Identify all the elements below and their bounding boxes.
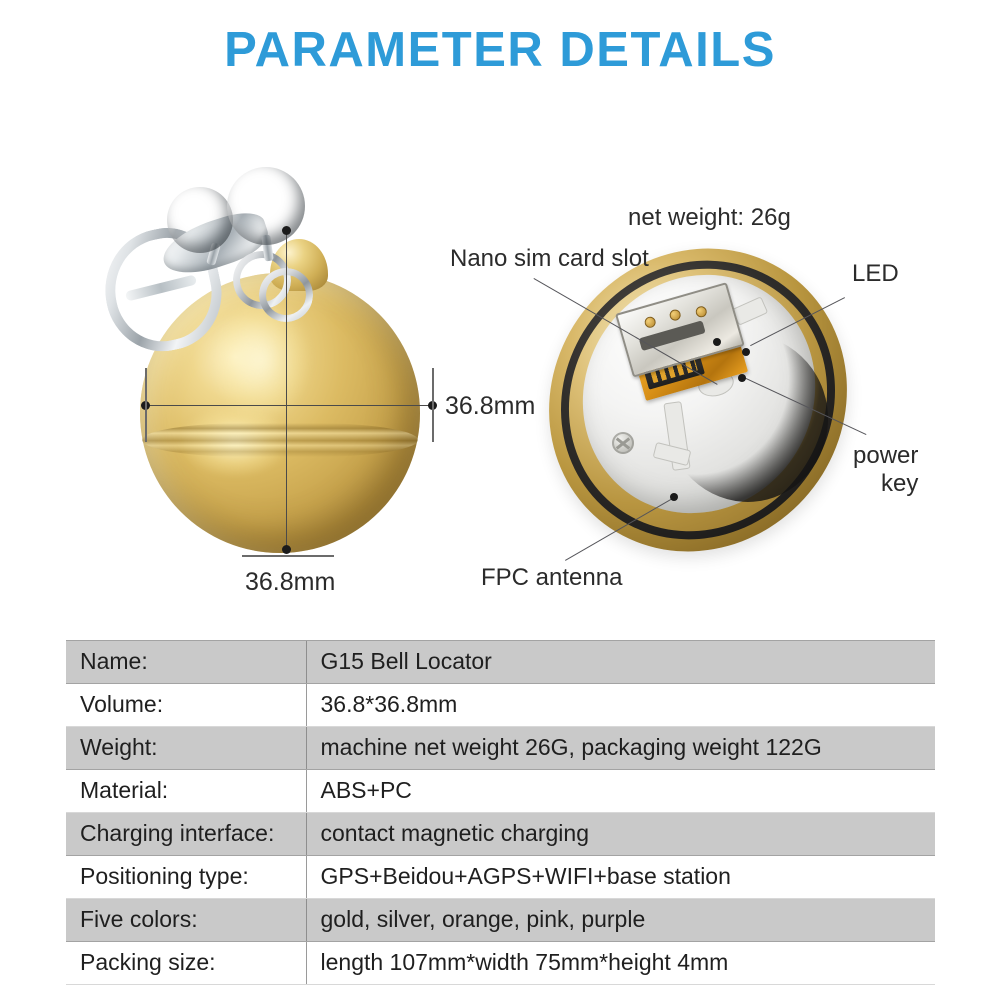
dimension-dot-bottom	[282, 545, 291, 554]
spec-value: 36.8*36.8mm	[306, 684, 935, 727]
annotation-fpc-antenna: FPC antenna	[481, 564, 622, 592]
specification-table: Name: G15 Bell Locator Volume: 36.8*36.8…	[66, 640, 935, 985]
screw-icon	[612, 432, 634, 454]
spec-label: Five colors:	[66, 899, 306, 942]
table-row: Charging interface: contact magnetic cha…	[66, 813, 935, 856]
spec-value: ABS+PC	[306, 770, 935, 813]
annotation-led: LED	[852, 260, 899, 288]
dimension-cap-right	[432, 368, 434, 442]
dimension-cap-left	[145, 368, 147, 442]
spec-value: machine net weight 26G, packaging weight…	[306, 727, 935, 770]
page-title: PARAMETER DETAILS	[0, 22, 1000, 78]
opened-bell-interior-photo	[548, 250, 848, 550]
table-row: Name: G15 Bell Locator	[66, 641, 935, 684]
annotation-power-key-line1: power	[853, 442, 918, 470]
table-row: Packing size: length 107mm*width 75mm*he…	[66, 942, 935, 985]
dimension-dot-top	[282, 226, 291, 235]
table-row: Weight: machine net weight 26G, packagin…	[66, 727, 935, 770]
dimension-cap-bottom	[242, 555, 334, 557]
spec-label: Weight:	[66, 727, 306, 770]
silver-bead-left	[167, 187, 233, 253]
spec-value: G15 Bell Locator	[306, 641, 935, 684]
spec-value: GPS+Beidou+AGPS+WIFI+base station	[306, 856, 935, 899]
annotation-power-key: power key	[853, 442, 918, 499]
spec-label: Volume:	[66, 684, 306, 727]
dimension-line-horizontal	[144, 405, 434, 406]
spec-label: Packing size:	[66, 942, 306, 985]
spec-value: contact magnetic charging	[306, 813, 935, 856]
spec-label: Charging interface:	[66, 813, 306, 856]
table-row: Positioning type: GPS+Beidou+AGPS+WIFI+b…	[66, 856, 935, 899]
annotation-power-key-line2: key	[853, 470, 918, 498]
leader-dot-nano-sim	[713, 338, 721, 346]
dimension-label-width: 36.8mm	[245, 568, 335, 597]
table-row: Material: ABS+PC	[66, 770, 935, 813]
spec-label: Positioning type:	[66, 856, 306, 899]
spec-label: Name:	[66, 641, 306, 684]
leader-dot-led	[742, 348, 750, 356]
bell-highlight-lower	[180, 405, 290, 477]
dimension-line-vertical	[286, 230, 287, 550]
leader-dot-fpc-antenna	[670, 493, 678, 501]
table-row: Five colors: gold, silver, orange, pink,…	[66, 899, 935, 942]
annotation-nano-sim-card-slot: Nano sim card slot	[450, 245, 649, 273]
annotation-net-weight: net weight: 26g	[628, 204, 791, 232]
spec-value: gold, silver, orange, pink, purple	[306, 899, 935, 942]
dimension-label-height: 36.8mm	[445, 392, 535, 421]
spec-table-body: Name: G15 Bell Locator Volume: 36.8*36.8…	[66, 641, 935, 985]
bead-right-gloss	[249, 179, 275, 197]
spec-value: length 107mm*width 75mm*height 4mm	[306, 942, 935, 985]
table-row: Volume: 36.8*36.8mm	[66, 684, 935, 727]
product-photo-section: 36.8mm 36.8mm net weight: 26g Nano s	[0, 120, 1000, 630]
leader-dot-power-key	[738, 374, 746, 382]
spec-label: Material:	[66, 770, 306, 813]
bead-left-gloss	[185, 198, 207, 214]
